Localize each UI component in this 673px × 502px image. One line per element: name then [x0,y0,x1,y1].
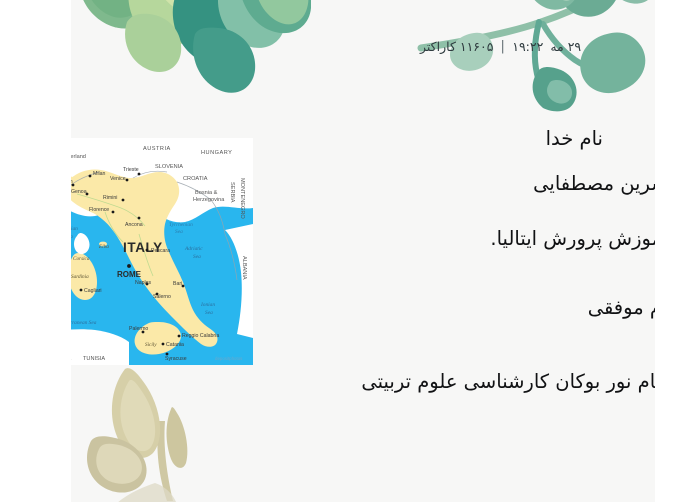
text-line-bismillah: نام خدا [249,126,603,151]
svg-text:Mediterranean Sea: Mediterranean Sea [71,320,97,326]
text-line-instructor: استاد:بهنام موفقی [249,295,655,320]
svg-text:Milan: Milan [93,171,106,177]
svg-text:Bari: Bari [173,281,182,287]
svg-text:Ionian: Ionian [200,302,215,308]
svg-text:TUNISIA: TUNISIA [83,356,105,362]
svg-text:Sea: Sea [193,254,201,260]
svg-text:Ligurian: Ligurian [71,226,78,232]
svg-text:Ancona: Ancona [125,222,143,228]
svg-text:MONTENEGRO: MONTENEGRO [239,178,245,219]
svg-text:Trieste: Trieste [123,167,139,173]
meta-separator: | [500,39,505,54]
svg-text:Venice: Venice [110,176,126,182]
svg-text:AUSTRIA: AUSTRIA [143,146,171,152]
svg-text:Cagliari: Cagliari [84,288,102,294]
svg-text:Sicily: Sicily [145,342,157,348]
svg-text:CROATIA: CROATIA [183,176,208,182]
svg-text:SLOVENIA: SLOVENIA [155,164,183,170]
svg-text:Herzegovina: Herzegovina [193,197,225,203]
svg-text:Sea: Sea [205,310,213,316]
svg-text:ALBANIA: ALBANIA [241,256,247,280]
watercolor-leaf-sprig-icon [85,365,205,502]
svg-text:Reggio Calabria: Reggio Calabria [182,333,219,339]
svg-text:Corsica: Corsica [73,256,90,262]
svg-text:Palermo: Palermo [129,326,148,332]
svg-text:Elba: Elba [98,244,109,250]
svg-text:Bosnia &: Bosnia & [195,190,218,196]
svg-text:Genoa: Genoa [71,189,87,195]
map-attribution: depositphotos [215,356,243,361]
svg-text:Tyrrhenian: Tyrrhenian [169,222,193,228]
text-line-university: دانشگاه پیام نور بوکان کارشناسی علوم ترب… [249,367,655,397]
document-page: ۲۹ مه ۱۹:۲۲ | ۱۱۶۰۵ کاراکتر [71,0,655,502]
screen-viewport: ۲۹ مه ۱۹:۲۲ | ۱۱۶۰۵ کاراکتر [0,0,673,502]
svg-text:Sardinia: Sardinia [71,274,89,280]
italy-map-image: .lbl{font-family:"Liberation Sans",sans-… [71,138,253,365]
svg-text:Sea: Sea [71,234,73,240]
meta-time: ۱۹:۲۲ [512,39,543,54]
svg-text:Syracuse: Syracuse [165,356,187,362]
svg-text:Pescara: Pescara [151,248,170,254]
watercolor-eucalyptus-cluster-icon [71,0,311,105]
document-text-column: نام خدا اسرین مصطفایی موضوع: آموزش پرورش… [249,126,609,398]
text-line-author: اسرین مصطفایی [249,171,655,196]
meta-strip: ۲۹ مه ۱۹:۲۲ | ۱۱۶۰۵ کاراکتر [420,36,625,56]
svg-text:Rimini: Rimini [103,195,117,201]
svg-text:HUNGARY: HUNGARY [201,150,232,156]
svg-text:SERBIA: SERBIA [229,182,235,203]
svg-text:Turin: Turin [71,179,73,185]
svg-text:Adriatic: Adriatic [184,246,203,252]
svg-text:Florence: Florence [89,207,109,213]
svg-text:Catania: Catania [166,342,184,348]
svg-text:Sea: Sea [175,229,183,235]
text-line-subject: موضوع: آموزش پرورش ایتالیا. [249,226,655,251]
svg-text:Switzerland: Switzerland [71,154,86,160]
svg-text:Salerno: Salerno [153,294,171,300]
watercolor-eucalyptus-branch-icon [411,0,655,113]
map-capital-label: ROME [117,270,142,279]
meta-character-count: ۱۱۶۰۵ کاراکتر [420,39,493,54]
meta-date: ۲۹ مه [550,39,581,54]
scrollbar-track[interactable] [667,0,673,502]
svg-text:Naples: Naples [135,280,152,286]
